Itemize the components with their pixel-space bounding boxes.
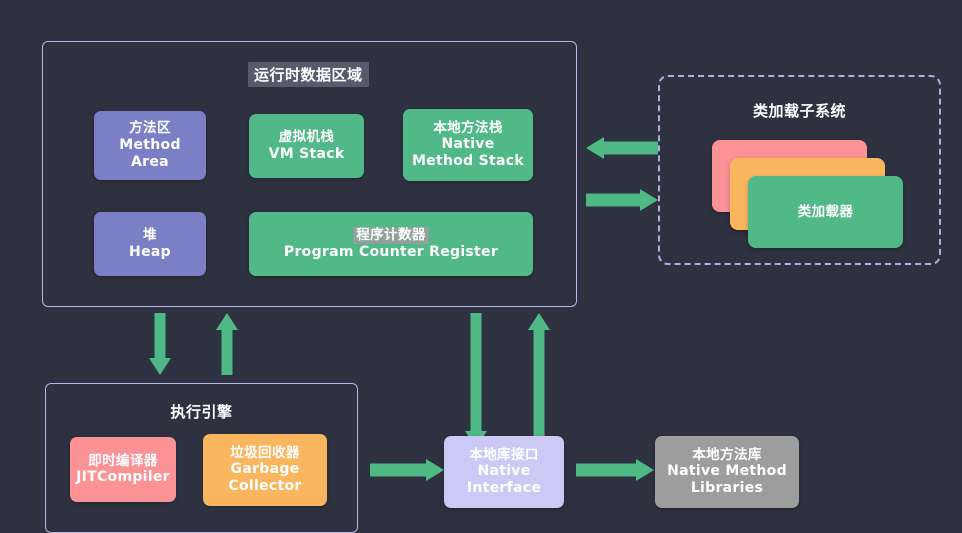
node-method-area-en-1: Method xyxy=(119,137,181,154)
node-method-area[interactable]: 方法区 Method Area xyxy=(94,111,206,180)
node-garbage-collector-en-2: Collector xyxy=(228,478,301,495)
class-loader-subsystem-title: 类加载子系统 xyxy=(658,100,941,121)
node-native-method-libraries[interactable]: 本地方法库 Native Method Libraries xyxy=(655,436,799,508)
arrow-classloader-to-runtime xyxy=(586,137,658,159)
node-jit-compiler-cn: 即时编译器 xyxy=(88,453,158,469)
node-garbage-collector-cn: 垃圾回收器 xyxy=(230,445,300,461)
node-native-interface-cn: 本地库接口 xyxy=(469,447,539,463)
jvm-architecture-diagram: 运行时数据区域 方法区 Method Area 虚拟机栈 VM Stack 本地… xyxy=(0,0,962,523)
node-native-interface[interactable]: 本地库接口 Native Interface xyxy=(444,436,564,508)
node-native-interface-en-2: Interface xyxy=(467,480,541,497)
node-native-method-stack-en-2: Method Stack xyxy=(412,153,524,170)
node-program-counter-register-cn: 程序计数器 xyxy=(353,227,429,243)
node-native-method-libraries-en-2: Libraries xyxy=(691,480,763,497)
arrow-native-interface-to-runtime xyxy=(527,313,551,448)
node-jit-compiler[interactable]: 即时编译器 JITCompiler xyxy=(70,437,176,502)
arrow-runtime-to-native-interface xyxy=(464,313,488,448)
node-method-area-cn: 方法区 xyxy=(129,120,171,136)
node-native-method-stack-cn: 本地方法栈 xyxy=(433,120,503,136)
node-native-method-stack-en-1: Native xyxy=(441,136,494,153)
node-program-counter-register-en-1: Program Counter Register xyxy=(284,244,498,261)
arrow-execution-engine-to-native-interface xyxy=(370,459,444,481)
node-vm-stack[interactable]: 虚拟机栈 VM Stack xyxy=(249,114,364,178)
class-loader-card-front[interactable]: 类加载器 xyxy=(748,176,903,248)
node-native-method-stack[interactable]: 本地方法栈 Native Method Stack xyxy=(403,109,533,181)
node-heap[interactable]: 堆 Heap xyxy=(94,212,206,276)
execution-engine-title: 执行引擎 xyxy=(45,401,358,422)
node-garbage-collector[interactable]: 垃圾回收器 Garbage Collector xyxy=(203,434,327,506)
node-native-interface-en-1: Native xyxy=(477,463,530,480)
arrow-runtime-to-execution-engine xyxy=(148,313,172,375)
runtime-data-area-title: 运行时数据区域 xyxy=(248,62,369,87)
node-garbage-collector-en-1: Garbage xyxy=(231,461,300,478)
node-native-method-libraries-en-1: Native Method xyxy=(667,463,787,480)
node-native-method-libraries-cn: 本地方法库 xyxy=(692,447,762,463)
node-heap-cn: 堆 xyxy=(143,227,157,243)
arrow-runtime-to-classloader xyxy=(586,189,658,211)
arrow-native-interface-to-libraries xyxy=(576,459,654,481)
node-heap-en-1: Heap xyxy=(129,244,171,261)
node-method-area-en-2: Area xyxy=(131,154,169,171)
class-loader-card-front-label: 类加载器 xyxy=(798,204,854,220)
node-vm-stack-en-1: VM Stack xyxy=(269,146,345,163)
node-program-counter-register[interactable]: 程序计数器 Program Counter Register xyxy=(249,212,533,276)
node-jit-compiler-en-1: JITCompiler xyxy=(76,469,170,486)
node-vm-stack-cn: 虚拟机栈 xyxy=(279,129,335,145)
arrow-execution-engine-to-runtime xyxy=(215,313,239,375)
